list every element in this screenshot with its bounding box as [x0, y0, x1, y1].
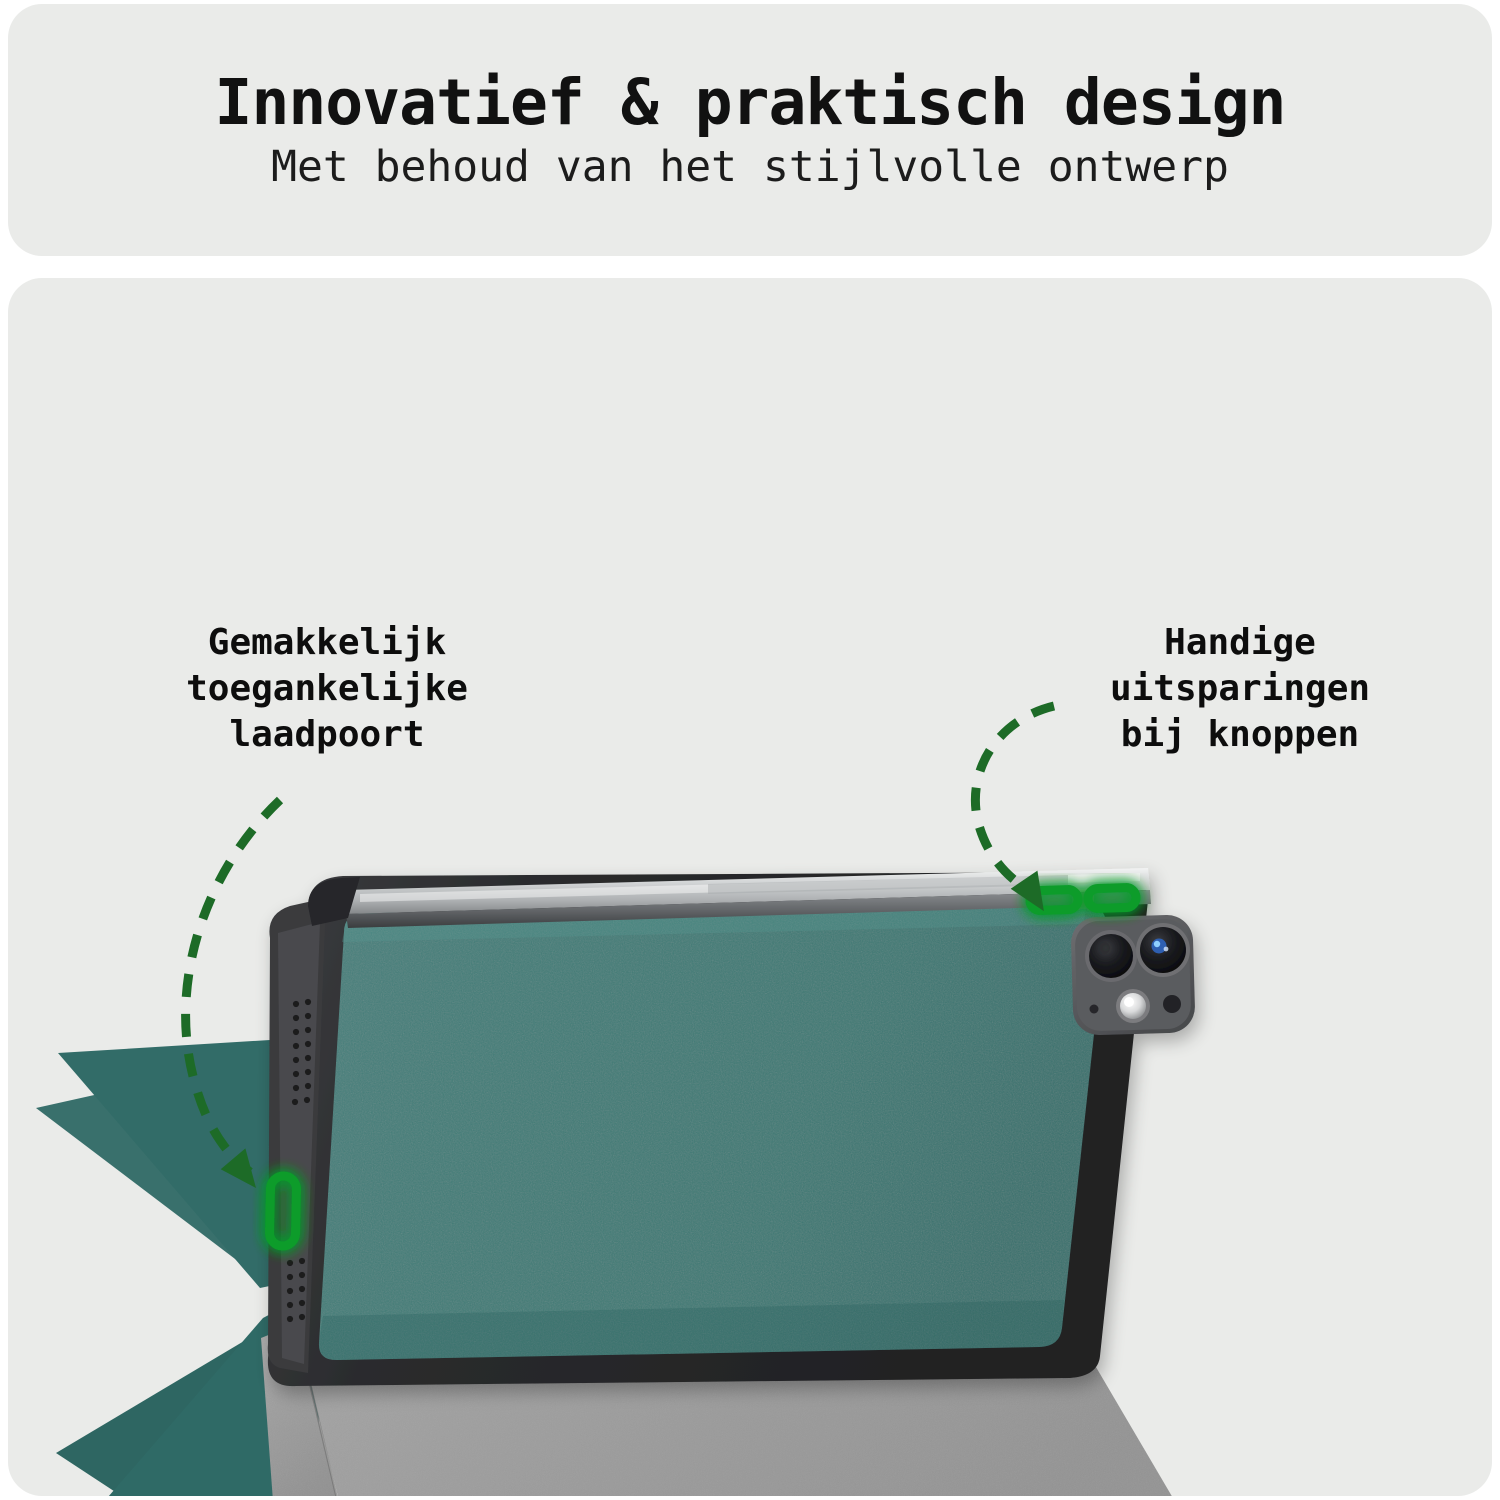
microphone-icon — [1090, 1005, 1099, 1014]
tablet-in-case-illustration — [8, 278, 1492, 1496]
header-panel: Innovatief & praktisch design Met behoud… — [8, 4, 1492, 256]
page-subtitle: Met behoud van het stijlvolle ontwerp — [271, 145, 1229, 190]
callout-label-button-cutouts: Handige uitsparingen bij knoppen — [1030, 620, 1450, 758]
camera-lens-wide-icon — [1085, 930, 1137, 982]
page-title: Innovatief & praktisch design — [215, 70, 1286, 136]
sensor-icon — [1163, 995, 1181, 1013]
camera-lens-ultrawide-icon — [1136, 923, 1190, 977]
camera-flash-icon — [1116, 989, 1150, 1023]
tablet-body — [268, 868, 1196, 1386]
product-image — [8, 278, 1492, 1496]
camera-module — [1070, 914, 1195, 1035]
case-back-panel — [319, 906, 1106, 1360]
callout-label-charging-port: Gemakkelijk toegankelijke laadpoort — [92, 620, 562, 758]
product-showcase-panel: Gemakkelijk toegankelijke laadpoort Hand… — [8, 278, 1492, 1496]
